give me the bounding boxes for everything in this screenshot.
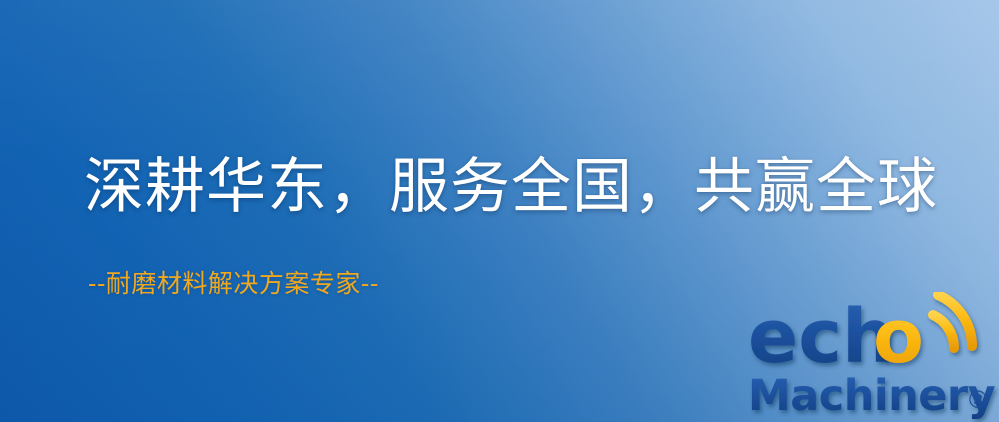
registered-trademark-icon: ®	[966, 386, 990, 414]
hero-banner: 深耕华东，服务全国，共赢全球 --耐磨材料解决方案专家--	[0, 0, 999, 422]
logo-machinery-text: Machinery	[748, 371, 996, 421]
page-title: 深耕华东，服务全国，共赢全球	[84, 152, 938, 222]
logo-wordmark-o: o	[873, 294, 924, 380]
page-subtitle: --耐磨材料解决方案专家--	[88, 268, 379, 300]
echo-wave-icon	[933, 295, 972, 348]
company-logo[interactable]: ech o Machinery ®	[748, 292, 999, 422]
logo-o-text: o	[873, 294, 924, 380]
echo-machinery-logo-graphic: ech o Machinery ®	[748, 292, 999, 422]
logo-tagline-group: Machinery ®	[748, 371, 996, 421]
